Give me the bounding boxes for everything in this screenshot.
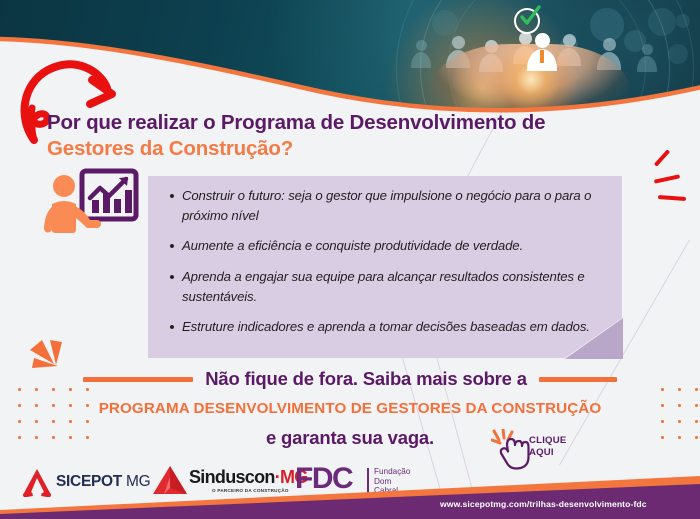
cta-rule-left (83, 377, 193, 382)
presenter-with-bar-chart-icon (40, 168, 140, 248)
logo-sicepot-text: SICEPOT MG (56, 473, 150, 491)
cta-subheadline: e garanta sua vaga. (0, 427, 700, 449)
title-line-secondary: Gestores da Construção? (47, 136, 647, 162)
logo-sinduscon-tagline: O PARCEIRO DA CONSTRUÇÃO (212, 488, 289, 493)
logo-fdc-fullname-line1: Fundação (374, 467, 410, 477)
cta-program-name: PROGRAMA DESENVOLVIMENTO DE GESTORES DA … (0, 400, 700, 417)
logo-sinduscon-name: Sinduscon (189, 467, 275, 487)
person-silhouette (410, 40, 432, 68)
cta-rule-right (539, 377, 617, 382)
logo-sicepot-suffix: MG (122, 473, 150, 490)
promotional-banner: Por que realizar o Programa de Desenvolv… (0, 0, 700, 519)
footer-url-text[interactable]: www.sicepotmg.com/trilhas-desenvolviment… (440, 499, 647, 509)
list-item-label: Aprenda a engajar sua equipe para alcanç… (182, 267, 615, 307)
list-item: • Aumente a eficiência e conquiste produ… (160, 236, 615, 257)
pointing-hand-cursor-icon[interactable] (491, 429, 533, 473)
check-mark-icon (518, 5, 542, 29)
logo-fdc: FDC Fundação Dom Cabral (295, 464, 425, 500)
decor-red-dash (658, 195, 686, 201)
bullet-marker: • (160, 267, 182, 307)
click-here-label-line1: CLIQUE (529, 435, 566, 447)
cta-headline-row: Não fique de fora. Saiba mais sobre a (0, 368, 700, 390)
list-item: • Aprenda a engajar sua equipe para alca… (160, 267, 615, 307)
bullet-marker: • (160, 236, 182, 257)
sinduscon-triangle-mark-icon (152, 465, 188, 495)
cta-headline: Não fique de fora. Saiba mais sobre a (205, 368, 527, 390)
benefits-list: • Construir o futuro: seja o gestor que … (160, 186, 615, 348)
highlighted-person-icon (527, 33, 557, 71)
sicepot-chevron-mark-icon (22, 467, 52, 497)
list-item-label: Aumente a eficiência e conquiste produti… (182, 236, 615, 257)
logo-fdc-acronym: FDC (295, 461, 352, 497)
list-item: • Estruture indicadores e aprenda a toma… (160, 317, 615, 338)
decor-red-dash (654, 174, 680, 183)
logo-sicepot-mg: SICEPOT MG (22, 465, 157, 499)
page-title: Por que realizar o Programa de Desenvolv… (47, 110, 647, 162)
bullet-marker: • (160, 317, 182, 338)
click-here-label-line2: AQUI (529, 447, 566, 459)
logo-sinduscon-mg: Sinduscon·MG O PARCEIRO DA CONSTRUÇÃO (152, 462, 297, 502)
list-item-label: Construir o futuro: seja o gestor que im… (182, 186, 615, 226)
logo-fdc-fullname-line2: Dom (374, 477, 410, 487)
decor-red-dash (654, 149, 670, 167)
bullet-marker: • (160, 186, 182, 226)
person-silhouette (636, 44, 658, 72)
click-here-cta[interactable]: CLIQUE AQUI (489, 427, 584, 473)
list-item: • Construir o futuro: seja o gestor que … (160, 186, 615, 226)
logo-sicepot-name: SICEPOT (56, 473, 122, 490)
bg-decor-line (429, 330, 482, 519)
logo-fdc-fullname: Fundação Dom Cabral (374, 467, 410, 496)
logo-fdc-divider (367, 468, 369, 494)
title-line-primary: Por que realizar o Programa de Desenvolv… (47, 110, 647, 136)
logo-sinduscon-text: Sinduscon·MG (189, 467, 308, 488)
list-item-label: Estruture indicadores e aprenda a tomar … (182, 317, 615, 338)
logo-fdc-fullname-line3: Cabral (374, 486, 410, 496)
click-here-label[interactable]: CLIQUE AQUI (529, 435, 566, 458)
